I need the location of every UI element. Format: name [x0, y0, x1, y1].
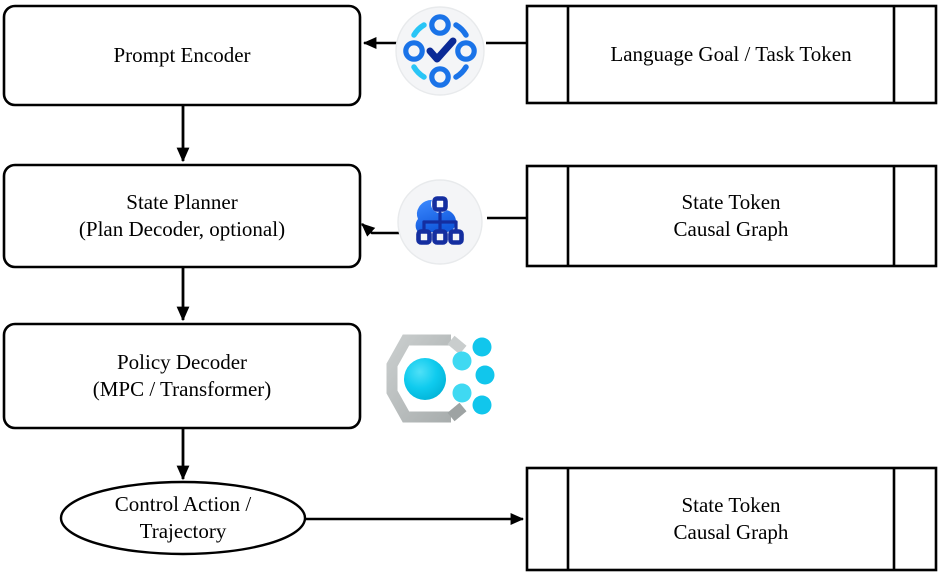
hexagon-particles-icon: [392, 338, 495, 418]
diagram-canvas: [0, 0, 941, 579]
node-state-token-bottom: [527, 468, 936, 570]
nodes-checkmark-icon: [396, 7, 484, 95]
node-control-action: [61, 482, 305, 554]
cloud-hierarchy-icon: [398, 180, 482, 264]
node-policy-decoder: [4, 324, 360, 428]
node-state-token-top: [527, 166, 936, 266]
flowchart-diagram: Prompt Encoder State Planner (Plan Decod…: [0, 0, 941, 579]
node-state-planner: [4, 165, 360, 267]
node-prompt-encoder: [4, 6, 360, 105]
node-language-goal: [527, 6, 936, 103]
